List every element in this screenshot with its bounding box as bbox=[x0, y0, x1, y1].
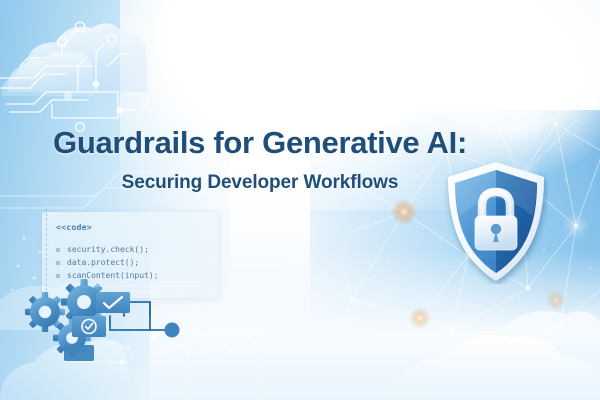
flowchart-chip bbox=[64, 345, 94, 361]
flowchart-node bbox=[165, 323, 180, 338]
banner-image: Guardrails for Generative AI: Securing D… bbox=[0, 0, 600, 400]
circled-check-icon bbox=[72, 316, 106, 337]
shield-icon bbox=[444, 160, 548, 284]
checkmark-icon bbox=[96, 292, 130, 313]
